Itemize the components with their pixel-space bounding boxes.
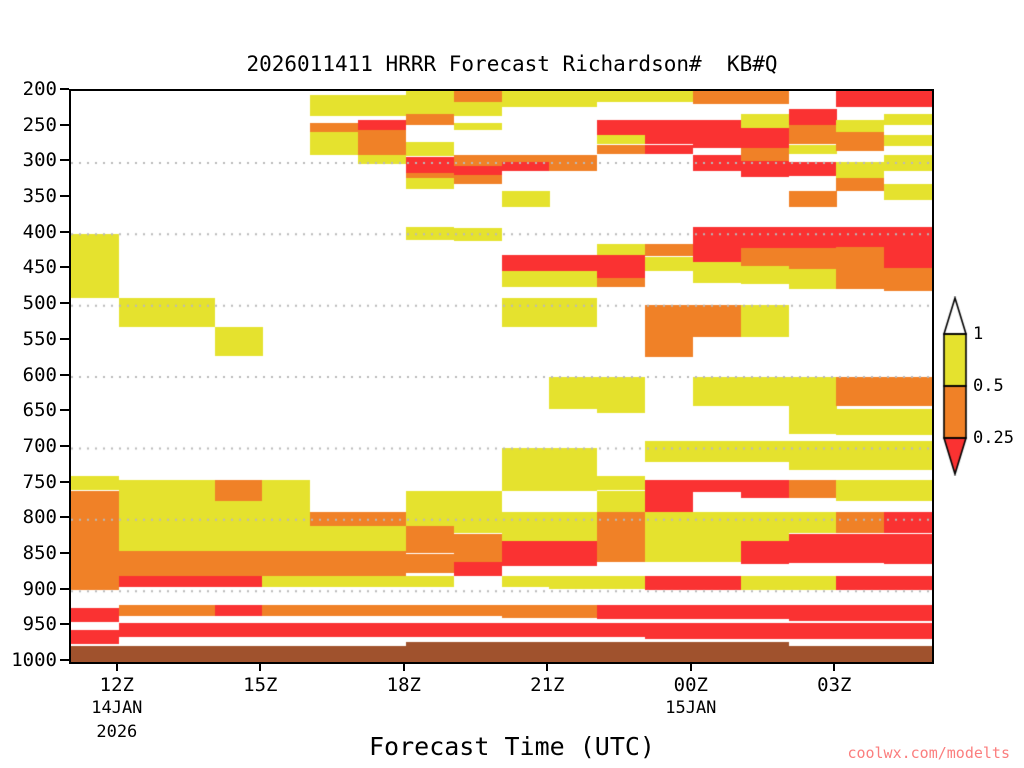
y-axis-tick-mark — [60, 552, 69, 554]
y-axis-tick-label: 800 — [23, 506, 57, 528]
x-axis-tick-mark — [690, 662, 692, 671]
x-axis-tick-label: 12Z — [100, 674, 134, 696]
x-axis-tick-label: 15Z — [243, 674, 277, 696]
y-axis-tick-mark — [60, 231, 69, 233]
y-axis-tick-label: 900 — [23, 578, 57, 600]
y-axis-tick-mark — [60, 409, 69, 411]
x-axis-date-label: 14JAN — [91, 698, 142, 718]
y-axis-tick-mark — [60, 374, 69, 376]
x-axis-tick-mark — [116, 662, 118, 671]
x-axis-tick-label: 00Z — [674, 674, 708, 696]
x-axis-tick-mark — [259, 662, 261, 671]
y-axis-tick-mark — [60, 338, 69, 340]
x-axis-tick-label: 21Z — [530, 674, 564, 696]
y-axis-tick-label: 250 — [23, 114, 57, 136]
y-axis-tick-label: 700 — [23, 435, 57, 457]
y-axis-tick-mark — [60, 659, 69, 661]
plot-area — [69, 89, 934, 664]
chart-title: 2026011411 HRRR Forecast Richardson# KB#… — [0, 52, 1024, 76]
y-axis-tick-label: 750 — [23, 471, 57, 493]
y-axis-tick-mark — [60, 516, 69, 518]
x-axis-tick-label: 03Z — [817, 674, 851, 696]
y-axis-tick-label: 350 — [23, 185, 57, 207]
colorbar — [941, 296, 969, 476]
y-axis-tick-mark — [60, 623, 69, 625]
y-axis-tick-mark — [60, 302, 69, 304]
y-axis-tick-label: 200 — [23, 78, 57, 100]
y-axis-tick-mark — [60, 588, 69, 590]
meteogram-page: 2026011411 HRRR Forecast Richardson# KB#… — [0, 0, 1024, 768]
colorbar-tick-label: 0.25 — [973, 428, 1014, 448]
y-axis-tick-mark — [60, 159, 69, 161]
y-axis-tick-label: 850 — [23, 542, 57, 564]
credit-text: coolwx.com/modelts — [847, 744, 1010, 762]
y-axis-tick-label: 650 — [23, 399, 57, 421]
y-axis-tick-label: 500 — [23, 292, 57, 314]
y-axis-tick-mark — [60, 124, 69, 126]
y-axis-labels: 2002503003504004505005506006507007508008… — [0, 0, 69, 768]
y-axis-tick-label: 600 — [23, 364, 57, 386]
gridlines — [71, 91, 932, 662]
colorbar-tick-label: 0.5 — [973, 376, 1004, 396]
x-axis-tick-mark — [833, 662, 835, 671]
x-axis-date-label: 15JAN — [665, 698, 716, 718]
y-axis-tick-label: 450 — [23, 256, 57, 278]
x-axis-tick-mark — [546, 662, 548, 671]
y-axis-tick-mark — [60, 266, 69, 268]
x-axis-tick-label: 18Z — [387, 674, 421, 696]
colorbar-tick-label: 1 — [973, 324, 983, 344]
y-axis-tick-mark — [60, 195, 69, 197]
y-axis-tick-label: 400 — [23, 221, 57, 243]
y-axis-tick-label: 300 — [23, 149, 57, 171]
y-axis-tick-label: 550 — [23, 328, 57, 350]
y-axis-tick-mark — [60, 88, 69, 90]
y-axis-tick-label: 950 — [23, 613, 57, 635]
y-axis-tick-mark — [60, 481, 69, 483]
y-axis-tick-mark — [60, 445, 69, 447]
y-axis-tick-label: 1000 — [11, 649, 57, 671]
x-axis-tick-mark — [403, 662, 405, 671]
